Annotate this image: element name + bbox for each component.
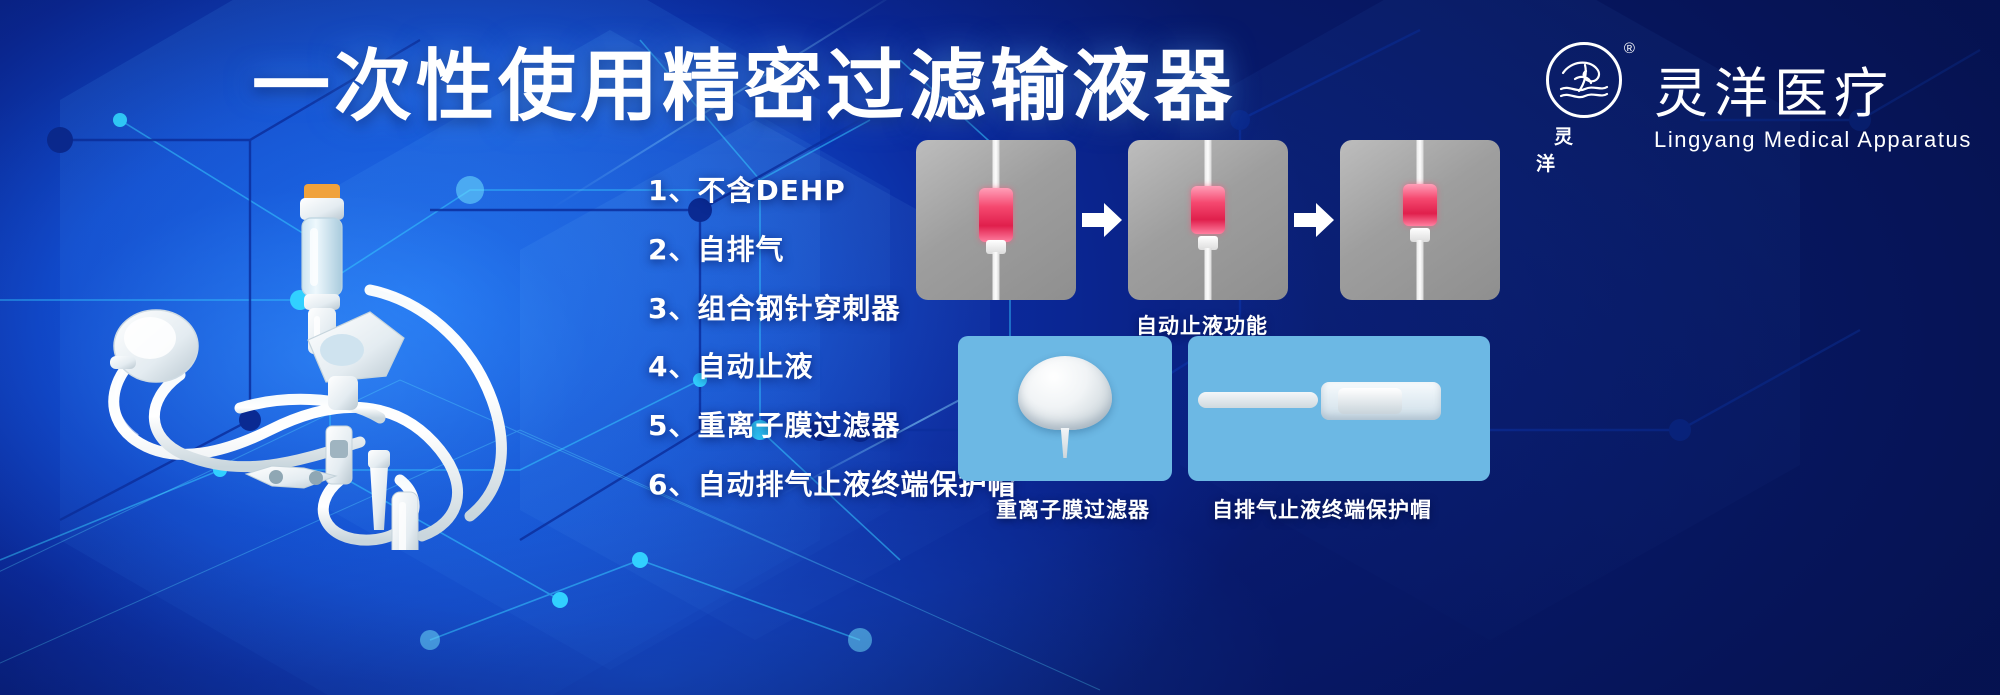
brand-text: 灵洋医疗 Lingyang Medical Apparatus [1654,65,1972,153]
logo-mark: ® 灵 洋 [1536,42,1632,176]
sequence-photo-2 [1128,140,1288,300]
product-photo [40,150,680,550]
page-title: 一次性使用精密过滤输液器 [252,48,1236,126]
caption-filter: 重离子膜过滤器 [996,494,1150,524]
brand-name-cn: 灵洋医疗 [1654,65,1972,123]
sequence-photo-3 [1340,140,1500,300]
arrow-separator-2 [1288,203,1340,237]
registered-trademark-icon: ® [1624,41,1635,56]
auto-stop-sequence-panel [916,140,1500,300]
caption-protective-cap: 自排气止液终端保护帽 [1212,494,1432,524]
product-banner: 一次性使用精密过滤输液器 ® 灵 洋 灵洋医疗 Lingyang [0,0,2000,695]
arrow-separator-1 [1076,203,1128,237]
filter-photo [958,336,1172,481]
logo-mark-label: 灵 洋 [1536,122,1632,176]
bottom-photo-panels [958,336,1490,481]
protective-cap-photo [1188,336,1490,481]
sequence-photo-1 [916,140,1076,300]
brand-logo: ® 灵 洋 灵洋医疗 Lingyang Medical Apparatus [1536,42,1972,176]
logo-emblem-icon: ® [1546,42,1622,118]
brand-name-en: Lingyang Medical Apparatus [1654,127,1972,153]
